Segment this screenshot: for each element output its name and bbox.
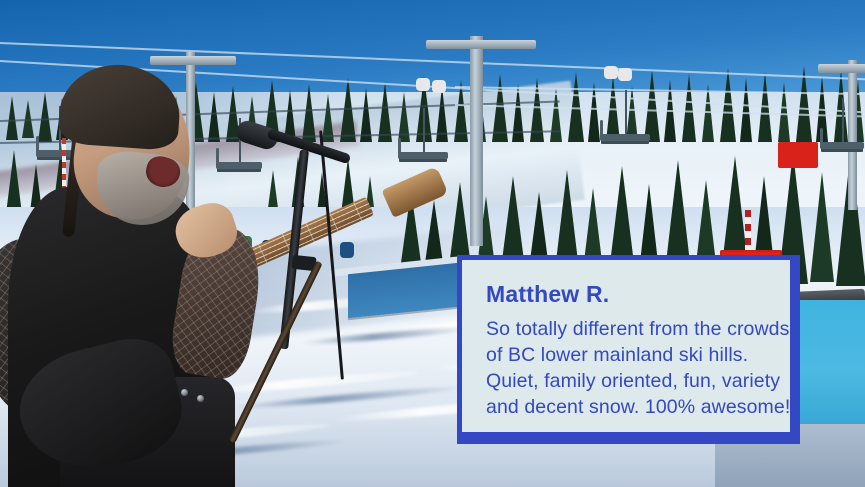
- background-tree: [550, 88, 562, 142]
- chairlift-rider: [618, 68, 632, 81]
- chairlift-tower-post: [470, 36, 483, 246]
- chair-backrest: [820, 128, 823, 144]
- video-frame-stage: Matthew R. So totally different from the…: [0, 0, 865, 487]
- chairlift-tower-arm: [818, 64, 865, 73]
- testimonial-quote-text: So totally different from the crowds of …: [486, 317, 772, 420]
- background-tree: [834, 70, 848, 142]
- chairlift-rider: [604, 66, 618, 79]
- chair-hanger-bar: [842, 98, 844, 142]
- midground-tree: [810, 172, 834, 282]
- chairlift-rider: [416, 78, 430, 91]
- testimonial-line-4: and decent snow. 100% awesome!: [486, 395, 772, 421]
- testimonial-card-inner: Matthew R. So totally different from the…: [462, 260, 790, 432]
- chair-seat: [820, 142, 864, 149]
- chair-seat: [600, 134, 650, 141]
- background-tree: [644, 70, 660, 142]
- belt-stud: [197, 395, 204, 402]
- chair-hanger-bar: [423, 108, 425, 152]
- chairlift-tower-arm: [426, 40, 536, 49]
- performer-hair: [57, 61, 182, 151]
- testimonial-line-1: So totally different from the crowds: [486, 317, 772, 343]
- belt-stud: [181, 389, 188, 396]
- bass-guitarist-performer: [0, 67, 380, 487]
- testimonial-line-3: Quiet, family oriented, fun, variety: [486, 369, 772, 395]
- background-tree: [682, 74, 696, 142]
- testimonial-author-name: Matthew R.: [486, 282, 772, 307]
- background-tree: [740, 78, 752, 142]
- chairlift-tower-post: [848, 60, 857, 210]
- chairlift-tower-arm: [150, 56, 236, 65]
- testimonial-card: Matthew R. So totally different from the…: [457, 255, 800, 444]
- chair-backrest: [398, 138, 401, 154]
- background-tree: [588, 82, 600, 142]
- chair-seat: [398, 152, 448, 159]
- chair-hanger-bar: [625, 90, 627, 134]
- testimonial-line-2: of BC lower mainland ski hills.: [486, 343, 772, 369]
- chairlift-rider: [432, 80, 446, 93]
- chair-backrest: [600, 120, 603, 136]
- trail-sign-red-secondary: [778, 142, 818, 168]
